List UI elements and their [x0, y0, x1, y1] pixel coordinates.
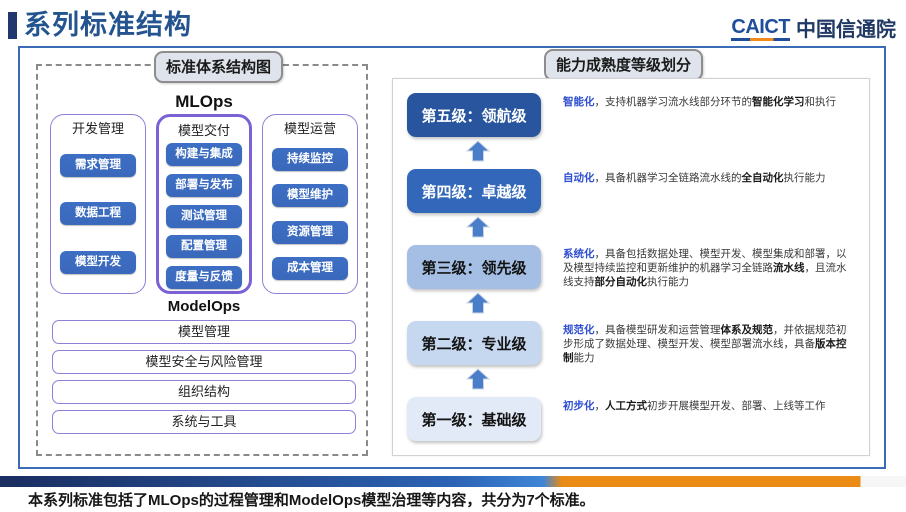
modelops-label: ModelOps	[38, 298, 370, 315]
column-title: 模型交付	[159, 121, 249, 140]
standard-system-title-pill: 标准体系结构图	[154, 51, 283, 83]
caict-logo: CAICT 中国信通院	[731, 16, 896, 41]
chip-item[interactable]: 构建与集成	[166, 143, 242, 166]
maturity-level-box[interactable]: 第二级：专业级	[407, 321, 541, 365]
maturity-level-description: 智能化，支持机器学习流水线部分环节的智能化学习和执行	[563, 93, 851, 109]
modelops-row[interactable]: 系统与工具	[52, 410, 356, 434]
chip-item[interactable]: 模型开发	[60, 251, 136, 274]
modelops-row[interactable]: 组织结构	[52, 380, 356, 404]
maturity-level-row: 第一级：基础级初步化，人工方式初步开展模型开发、部署、上线等工作	[407, 397, 857, 441]
chip-item[interactable]: 成本管理	[272, 257, 348, 280]
up-arrow-icon	[465, 140, 491, 162]
page-title: 系列标准结构	[24, 8, 192, 42]
maturity-level-row: 第二级：专业级规范化，具备模型研发和运营管理体系及规范，并依据规范初步形成了数据…	[407, 321, 857, 365]
maturity-level-box[interactable]: 第五级：领航级	[407, 93, 541, 137]
mlops-column-model-delivery[interactable]: 模型交付 构建与集成 部署与发布 测试管理 配置管理 度量与反馈	[156, 114, 252, 294]
chip-item[interactable]: 部署与发布	[166, 174, 242, 197]
chip-item[interactable]: 配置管理	[166, 235, 242, 258]
column-title: 模型运营	[263, 119, 357, 138]
mlops-column-model-operations[interactable]: 模型运营 持续监控 模型维护 资源管理 成本管理	[262, 114, 358, 294]
modelops-rows: 模型管理 模型安全与风险管理 组织结构 系统与工具	[52, 320, 356, 434]
maturity-level-box[interactable]: 第三级：领先级	[407, 245, 541, 289]
chip-item[interactable]: 测试管理	[166, 205, 242, 228]
logo-brand-text: CAICT	[731, 16, 790, 41]
maturity-level-box[interactable]: 第一级：基础级	[407, 397, 541, 441]
standard-system-panel: 标准体系结构图 MLOps 开发管理 需求管理 数据工程 模型开发 模型交付 构	[36, 64, 368, 456]
maturity-level-box[interactable]: 第四级：卓越级	[407, 169, 541, 213]
slide-root: 系列标准结构 CAICT 中国信通院 标准体系结构图 MLOps 开发管理 需求…	[0, 0, 906, 512]
up-arrow-icon	[465, 216, 491, 238]
mlops-column-dev-management[interactable]: 开发管理 需求管理 数据工程 模型开发	[50, 114, 146, 294]
maturity-levels-list: 第五级：领航级智能化，支持机器学习流水线部分环节的智能化学习和执行第四级：卓越级…	[407, 93, 857, 445]
mlops-label: MLOps	[38, 92, 370, 112]
maturity-level-description: 系统化，具备包括数据处理、模型开发、模型集成和部署，以及模型持续监控和更新维护的…	[563, 245, 851, 289]
maturity-level-row: 第四级：卓越级自动化，具备机器学习全链路流水线的全自动化执行能力	[407, 169, 857, 213]
maturity-level-description: 初步化，人工方式初步开展模型开发、部署、上线等工作	[563, 397, 851, 413]
modelops-row[interactable]: 模型安全与风险管理	[52, 350, 356, 374]
slide-header: 系列标准结构 CAICT 中国信通院	[0, 0, 906, 44]
maturity-levels-panel: 第五级：领航级智能化，支持机器学习流水线部分环节的智能化学习和执行第四级：卓越级…	[392, 78, 870, 456]
footer-color-bar	[0, 476, 906, 487]
maturity-level-row: 第三级：领先级系统化，具备包括数据处理、模型开发、模型集成和部署，以及模型持续监…	[407, 245, 857, 289]
chip-item[interactable]: 数据工程	[60, 202, 136, 225]
chip-item[interactable]: 度量与反馈	[166, 266, 242, 289]
chip-item[interactable]: 资源管理	[272, 221, 348, 244]
maturity-level-description: 自动化，具备机器学习全链路流水线的全自动化执行能力	[563, 169, 851, 185]
column-title: 开发管理	[51, 119, 145, 138]
maturity-level-row: 第五级：领航级智能化，支持机器学习流水线部分环节的智能化学习和执行	[407, 93, 857, 137]
chip-item[interactable]: 需求管理	[60, 154, 136, 177]
content-frame: 标准体系结构图 MLOps 开发管理 需求管理 数据工程 模型开发 模型交付 构	[18, 46, 886, 469]
modelops-row[interactable]: 模型管理	[52, 320, 356, 344]
chip-item[interactable]: 模型维护	[272, 184, 348, 207]
maturity-title-pill: 能力成熟度等级划分	[544, 49, 703, 81]
up-arrow-icon	[465, 368, 491, 390]
up-arrow-icon	[465, 292, 491, 314]
mlops-columns: 开发管理 需求管理 数据工程 模型开发 模型交付 构建与集成 部署与发布 测试管…	[50, 114, 358, 294]
chip-item[interactable]: 持续监控	[272, 148, 348, 171]
title-marker	[8, 12, 17, 39]
maturity-level-description: 规范化，具备模型研发和运营管理体系及规范，并依据规范初步形成了数据处理、模型开发…	[563, 321, 851, 365]
logo-chinese-name: 中国信通院	[796, 19, 896, 41]
footer-summary-text: 本系列标准包括了MLOps的过程管理和ModelOps模型治理等内容，共分为7个…	[0, 487, 906, 512]
